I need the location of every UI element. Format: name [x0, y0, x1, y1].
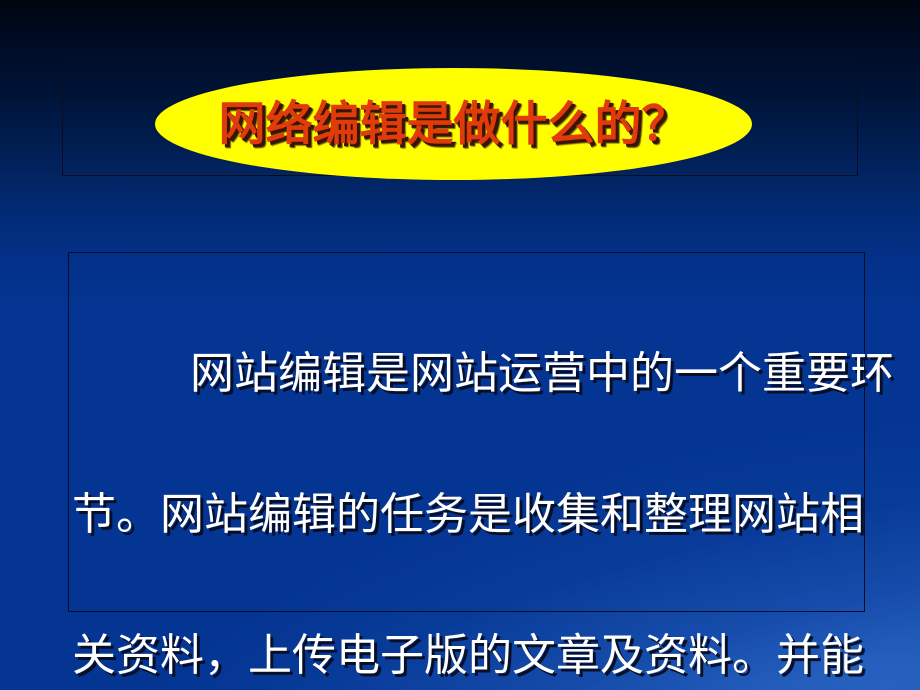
body-text-line: 关资料，上传电子版的文章及资料。并能 — [72, 632, 862, 679]
slide-title: 网络编辑是做什么的？ — [155, 68, 752, 180]
body-text-block: 网站编辑是网站运营中的一个重要环 节。网站编辑的任务是收集和整理网站相 关资料，… — [72, 252, 862, 690]
body-text-line: 节。网站编辑的任务是收集和整理网站相 — [72, 491, 862, 538]
presentation-slide: 网络编辑是做什么的？ 网站编辑是网站运营中的一个重要环 节。网站编辑的任务是收集… — [0, 0, 920, 690]
body-text-line: 网站编辑是网站运营中的一个重要环 — [72, 350, 862, 397]
